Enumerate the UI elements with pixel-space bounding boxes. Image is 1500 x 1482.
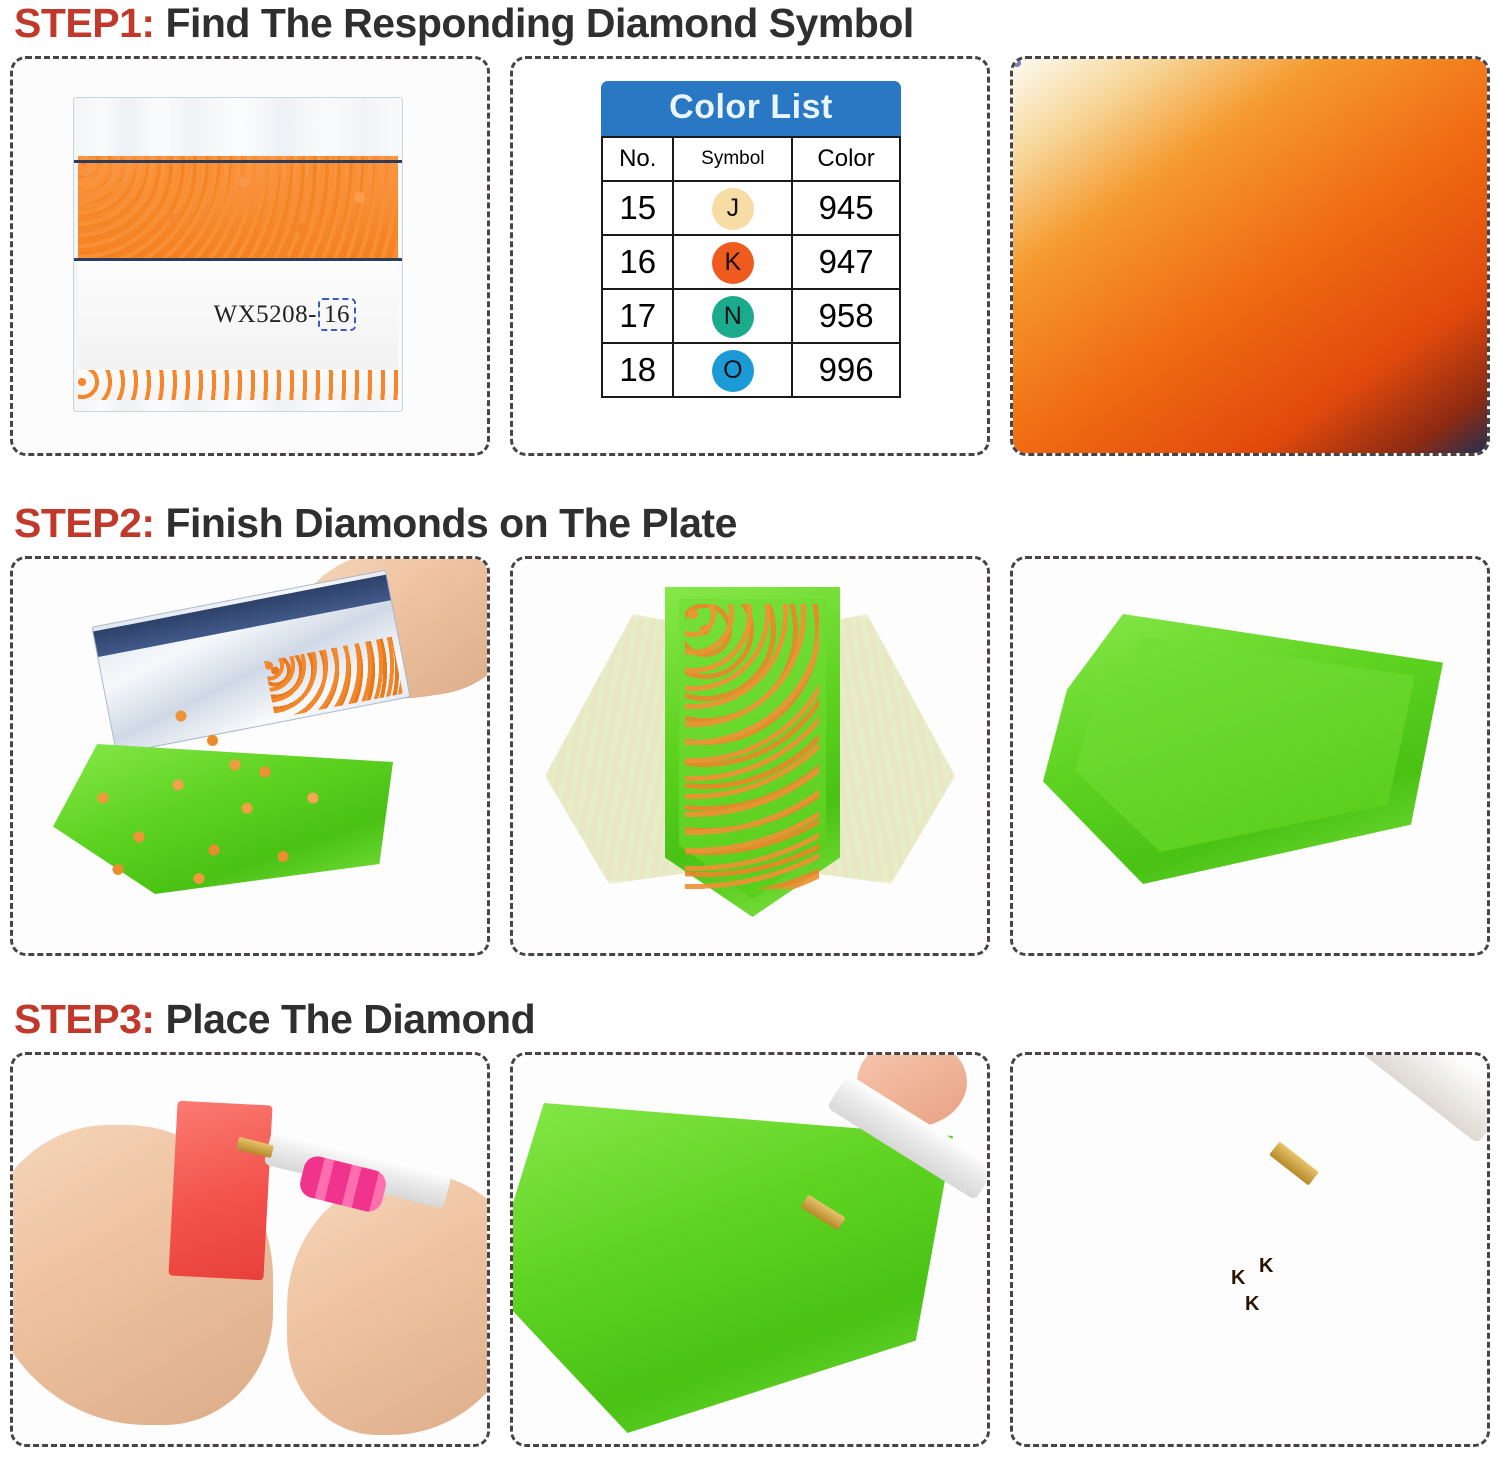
tray-beads	[685, 604, 819, 889]
canvas-bead-grid	[1013, 1055, 1487, 1444]
symbol-dot: O	[712, 350, 754, 392]
bag-bottom-beads	[78, 370, 398, 400]
row-symbol-cell: O	[673, 343, 792, 397]
canvas-photo: K K K	[1013, 1055, 1487, 1444]
row-no: 17	[602, 289, 673, 343]
row-symbol-cell: J	[673, 181, 792, 235]
panel-color-list: Color List No. Symbol Color 15 J 945 16	[510, 56, 990, 456]
table-row: 16 K 947	[602, 235, 900, 289]
color-list-card: Color List No. Symbol Color 15 J 945 16	[601, 81, 901, 398]
step1-heading-row: STEP1: Find The Responding Diamond Symbo…	[0, 0, 1500, 56]
color-list-table: No. Symbol Color 15 J 945 16 K 947	[601, 136, 901, 398]
row-no: 15	[602, 181, 673, 235]
step2-number: STEP2:	[14, 500, 155, 546]
panel-symbol-chart	[1010, 56, 1490, 456]
step2-heading-row: STEP2: Finish Diamonds on The Plate	[0, 500, 1500, 556]
bag-bead-pile	[264, 637, 403, 719]
row-no: 18	[602, 343, 673, 397]
bag-code-prefix: WX5208	[214, 301, 309, 328]
canvas-symbol-k: K	[1245, 1293, 1259, 1316]
wax-block	[168, 1101, 272, 1281]
color-list-title: Color List	[601, 81, 901, 136]
canvas-symbol-k: K	[1231, 1267, 1245, 1290]
panel-wax-pen	[10, 1052, 490, 1447]
symbol-dot: K	[712, 242, 754, 284]
wax-pen-photo	[13, 1055, 487, 1444]
panel-aligned-tray	[1010, 556, 1490, 956]
symbol-dot: N	[712, 296, 754, 338]
bag-code-separator: -	[308, 301, 317, 328]
step3-panels: K K K	[0, 1052, 1500, 1447]
step2-heading: STEP2: Finish Diamonds on The Plate	[0, 500, 1500, 547]
step1-heading: STEP1: Find The Responding Diamond Symbo…	[0, 0, 1500, 47]
step3-title: Place The Diamond	[155, 996, 536, 1042]
shake-tray-photo	[513, 559, 987, 953]
row-color: 947	[792, 235, 900, 289]
panel-canvas: K K K	[1010, 1052, 1490, 1447]
panel-bead-bag: WX5208-16	[10, 56, 490, 456]
bag-label: WX5208-16	[78, 261, 398, 369]
bag-code-highlight: 16	[318, 298, 356, 331]
step2-panels	[0, 556, 1500, 956]
bag-beads	[78, 156, 398, 260]
panel-pour-beads	[10, 556, 490, 956]
panel-pick-bead	[510, 1052, 990, 1447]
table-row: 17 N 958	[602, 289, 900, 343]
panel-shake-tray	[510, 556, 990, 956]
row-symbol-cell: K	[673, 235, 792, 289]
header-symbol: Symbol	[673, 137, 792, 181]
hand-right	[287, 1175, 490, 1435]
step3-number: STEP3:	[14, 996, 155, 1042]
row-no: 16	[602, 235, 673, 289]
pick-bead-photo	[513, 1055, 987, 1444]
row-symbol-cell: N	[673, 289, 792, 343]
pour-beads-photo	[13, 559, 487, 953]
step2-title: Finish Diamonds on The Plate	[155, 500, 737, 546]
symbol-chart	[1013, 59, 1487, 453]
bead-bag-photo: WX5208-16	[13, 59, 487, 453]
bag-code: WX5208-16	[214, 301, 356, 329]
row-color: 958	[792, 289, 900, 343]
symbol-grid	[1013, 59, 1487, 453]
symbol-dot: J	[712, 188, 754, 230]
canvas-symbol-k: K	[1259, 1255, 1273, 1278]
table-row: 18 O 996	[602, 343, 900, 397]
row-color: 996	[792, 343, 900, 397]
zip-bag: WX5208-16	[73, 97, 403, 412]
step3-heading-row: STEP3: Place The Diamond	[0, 996, 1500, 1052]
falling-beads	[163, 709, 253, 779]
row-color: 945	[792, 181, 900, 235]
header-no: No.	[602, 137, 673, 181]
step3-heading: STEP3: Place The Diamond	[0, 996, 1500, 1043]
green-tray	[510, 1103, 953, 1433]
aligned-tray-photo	[1013, 559, 1487, 953]
step1-number: STEP1:	[14, 0, 155, 46]
header-color: Color	[792, 137, 900, 181]
color-list-header-row: No. Symbol Color	[602, 137, 900, 181]
table-row: 15 J 945	[602, 181, 900, 235]
step1-panels: WX5208-16 Color List No. Symbol Color 15…	[0, 56, 1500, 456]
bag-seal-top	[74, 160, 402, 163]
step1-title: Find The Responding Diamond Symbol	[155, 0, 914, 46]
